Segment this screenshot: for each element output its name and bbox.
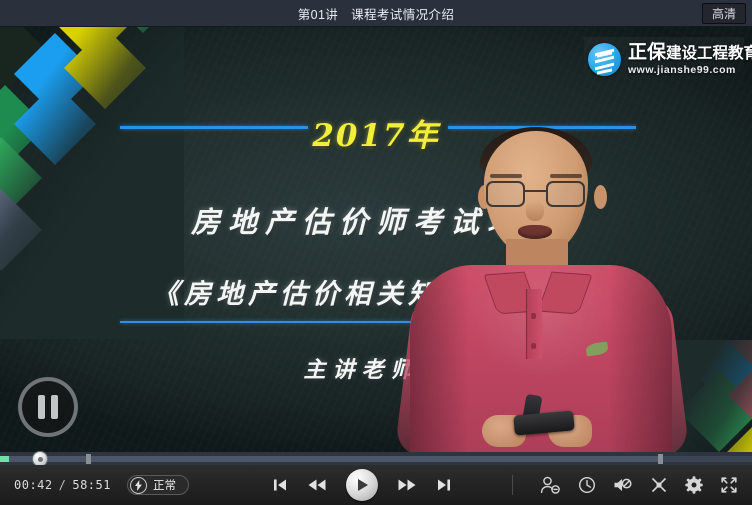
previous-track-button[interactable]: [272, 477, 288, 493]
lightning-bolt-icon: [130, 477, 147, 494]
settings-button[interactable]: [685, 476, 703, 494]
eyeglasses-icon: [486, 181, 525, 207]
transport-controls: [272, 465, 452, 505]
quality-badge[interactable]: 高清: [702, 3, 746, 24]
tool-controls: [540, 465, 738, 505]
progress-played: [0, 456, 9, 462]
video-stage[interactable]: 2017年 房地产估价师考试培训 《房地产估价相关知识》精讲班 主讲老师：: [0, 27, 752, 452]
brand-url: www.jianshe99.com: [628, 65, 752, 76]
brand-name: 正保建设工程教育网: [628, 43, 752, 63]
chapter-marker[interactable]: [658, 454, 663, 464]
playback-speed-label: 正常: [153, 477, 176, 493]
user-button[interactable]: [540, 476, 561, 494]
pause-bar-left: [38, 395, 45, 419]
progress-buffer: [0, 456, 662, 462]
time-display: 00:42/58:51: [14, 478, 111, 492]
video-player: 第01讲 课程考试情况介绍 高清: [0, 0, 752, 505]
total-time: 58:51: [72, 478, 111, 492]
brand-logo: 正保建设工程教育网 www.jianshe99.com: [584, 37, 744, 82]
playback-speed-button[interactable]: 正常: [127, 475, 189, 495]
pause-bar-right: [51, 395, 58, 419]
control-divider: [512, 475, 513, 495]
chapter-marker[interactable]: [86, 454, 91, 464]
presenter-figure: [398, 127, 688, 452]
rewind-button[interactable]: [307, 477, 327, 493]
progress-bar[interactable]: [0, 452, 752, 465]
fullscreen-button[interactable]: [720, 476, 738, 494]
lecture-title: 第01讲 课程考试情况介绍: [298, 4, 455, 23]
current-time: 00:42: [14, 478, 53, 492]
pause-overlay-button[interactable]: [18, 377, 78, 437]
time-separator: /: [59, 478, 67, 492]
snapshot-button[interactable]: [650, 476, 668, 494]
brand-mark-icon: [588, 43, 621, 76]
mute-button[interactable]: [613, 476, 633, 494]
title-bar: 第01讲 课程考试情况介绍 高清: [0, 0, 752, 27]
play-button[interactable]: [346, 469, 378, 501]
control-bar: 00:42/58:51 正常: [0, 465, 752, 505]
next-track-button[interactable]: [436, 477, 452, 493]
history-button[interactable]: [578, 476, 596, 494]
fast-forward-button[interactable]: [397, 477, 417, 493]
